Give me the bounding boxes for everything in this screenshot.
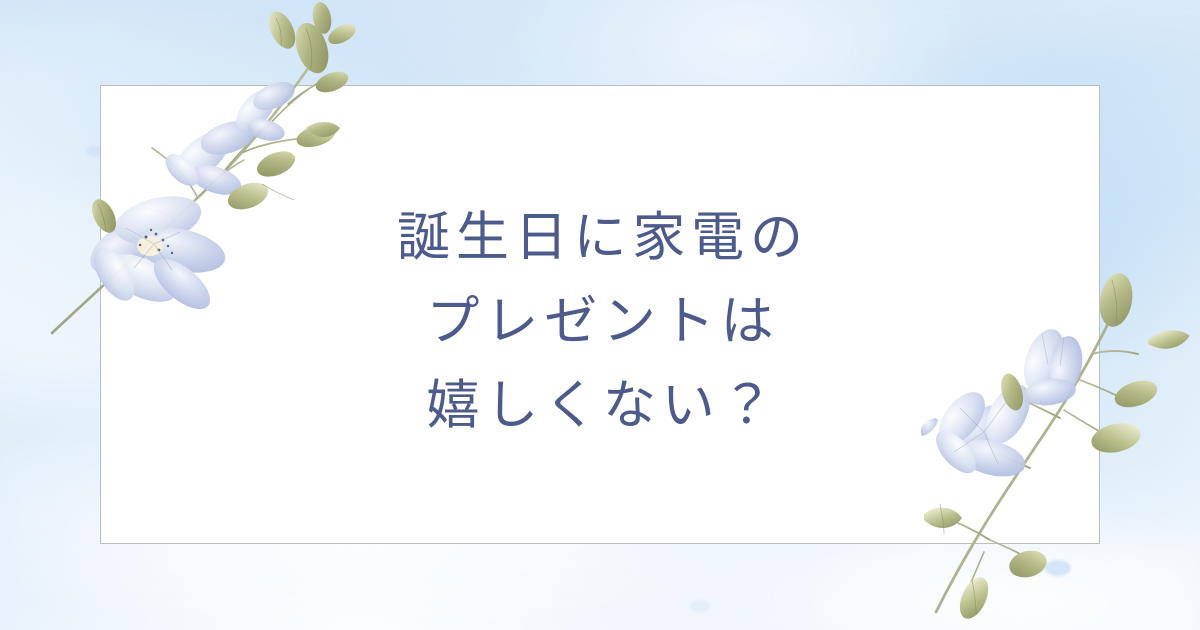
og-image-canvas: 誕生日に家電の プレゼントは 嬉しくない？ bbox=[0, 0, 1200, 630]
headline-line-1: 誕生日に家電の bbox=[0, 196, 1200, 280]
page-title: 誕生日に家電の プレゼントは 嬉しくない？ bbox=[0, 196, 1200, 448]
background-speck bbox=[1045, 560, 1071, 576]
headline-line-3: 嬉しくない？ bbox=[0, 364, 1200, 448]
headline-line-2: プレゼントは bbox=[0, 280, 1200, 364]
background-speck bbox=[690, 600, 710, 612]
